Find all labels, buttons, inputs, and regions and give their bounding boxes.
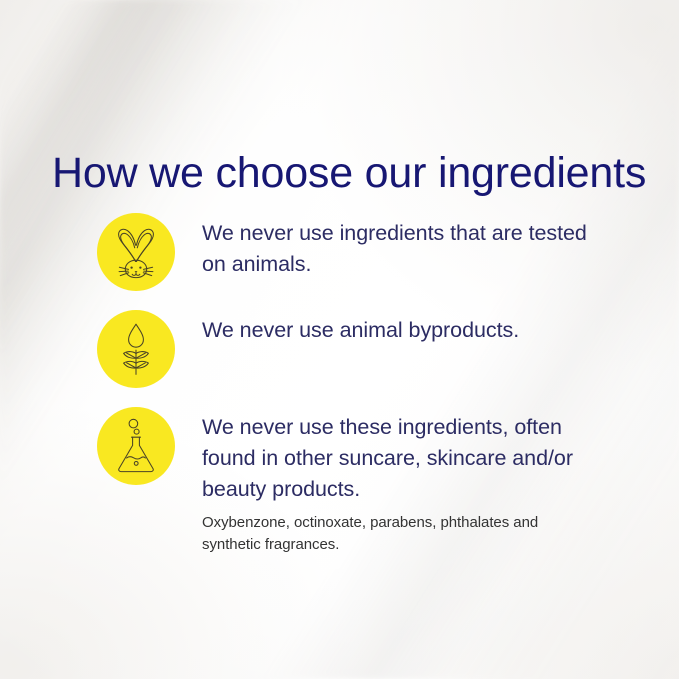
infographic-card: How we choose our ingredients	[0, 0, 679, 679]
erlenmeyer-flask-icon	[114, 418, 158, 474]
feature-body: We never use these ingredients, often fo…	[202, 412, 606, 505]
feature-note: Oxybenzone, octinoxate, parabens, phthal…	[202, 512, 562, 555]
feature-body: We never use animal byproducts.	[202, 315, 602, 346]
feature-body: We never use ingredients that are tested…	[202, 218, 602, 280]
icon-badge-cruelty-free	[97, 213, 175, 291]
page-title: How we choose our ingredients	[52, 147, 646, 199]
feature-list: We never use ingredients that are tested…	[0, 213, 679, 555]
feature-text: We never use animal byproducts.	[202, 310, 679, 346]
plant-leaf-droplet-icon	[114, 322, 158, 376]
bunny-heart-ears-icon	[113, 225, 159, 279]
list-item: We never use these ingredients, often fo…	[0, 407, 679, 555]
list-item: We never use ingredients that are tested…	[0, 213, 679, 291]
icon-badge-plant-based	[97, 310, 175, 388]
list-item: We never use animal byproducts.	[0, 310, 679, 388]
feature-text: We never use ingredients that are tested…	[202, 213, 679, 280]
feature-text: We never use these ingredients, often fo…	[202, 407, 679, 555]
icon-badge-no-chemicals	[97, 407, 175, 485]
